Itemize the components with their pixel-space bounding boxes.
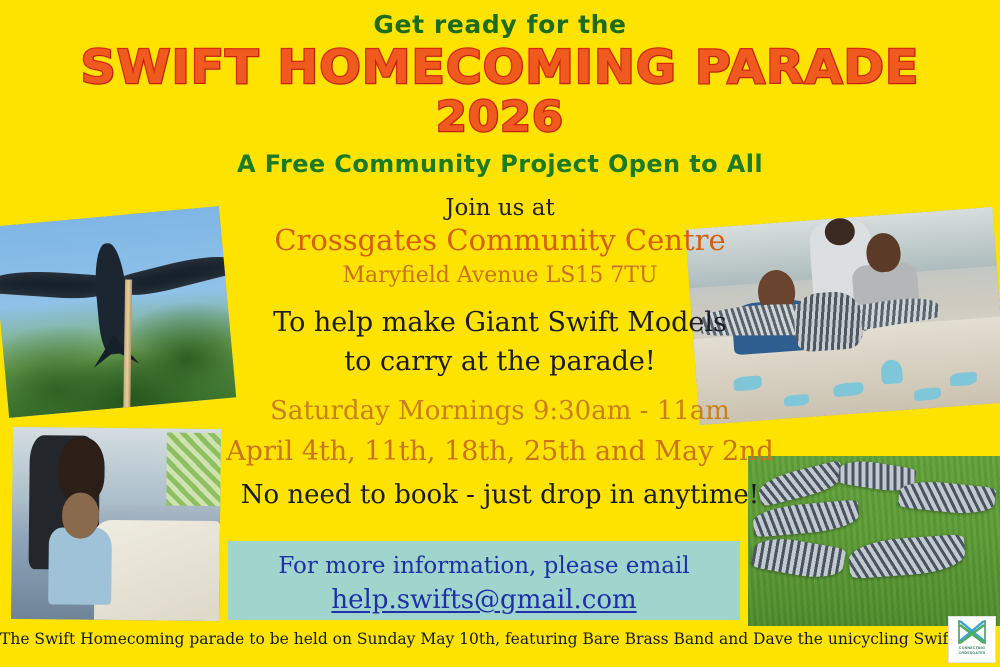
page-title: SWIFT HOMECOMING PARADE — [0, 44, 1000, 90]
swift-carry-pole-shape — [123, 280, 132, 411]
connecting-crossgates-logo: CONNECTING CROSSGATES — [948, 616, 996, 663]
page-title-year: 2026 — [0, 96, 1000, 138]
contact-email-link[interactable]: help.swifts@gmail.com — [228, 587, 740, 613]
crossgates-x-icon — [957, 619, 987, 645]
craft-child-body-shape — [49, 527, 112, 604]
grass-swift-model — [751, 533, 846, 582]
logo-text-line-one: CONNECTING — [959, 646, 985, 650]
logo-text-line-two: CROSSGATES — [959, 651, 986, 655]
purpose-line-one: To help make Giant Swift Models — [0, 309, 1000, 336]
schedule-dates: April 4th, 11th, 18th, 25th and May 2nd — [0, 438, 1000, 465]
craft-paper-sheet-shape — [94, 520, 220, 621]
schedule-times: Saturday Mornings 9:30am - 11am — [0, 398, 1000, 424]
contact-panel: For more information, please email help.… — [228, 541, 740, 620]
purpose-line-two: to carry at the parade! — [0, 348, 1000, 375]
pretitle-text: Get ready for the — [0, 12, 1000, 37]
footer-note: The Swift Homecoming parade to be held o… — [0, 632, 948, 648]
booking-note: No need to book - just drop in anytime! — [0, 482, 1000, 508]
contact-prompt: For more information, please email — [228, 555, 740, 578]
grass-swift-model — [848, 534, 966, 579]
subtitle-text: A Free Community Project Open to All — [0, 152, 1000, 176]
venue-address: Maryfield Avenue LS15 7TU — [0, 265, 1000, 287]
swift-homecoming-parade-poster: Get ready for the SWIFT HOMECOMING PARAD… — [0, 0, 1000, 667]
join-us-label: Join us at — [0, 197, 1000, 220]
venue-name: Crossgates Community Centre — [0, 226, 1000, 255]
workshop-scrap-piece — [733, 375, 762, 391]
